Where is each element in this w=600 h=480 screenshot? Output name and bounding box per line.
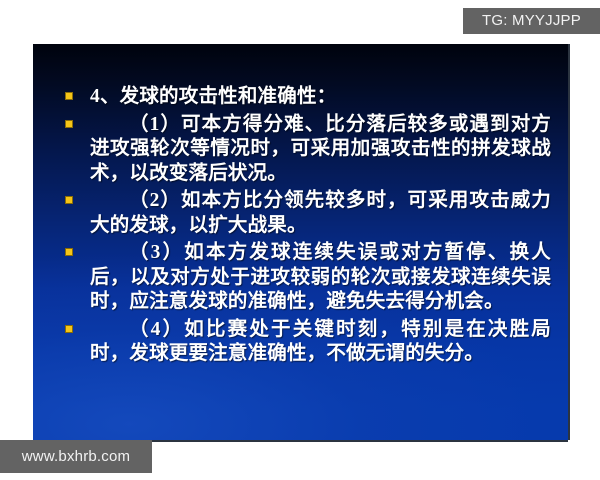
square-bullet-icon xyxy=(65,196,73,204)
telegram-handle-badge: TG: MYYJJPP xyxy=(463,8,600,34)
square-bullet-icon xyxy=(65,120,73,128)
bullet-item-text: （3）如本方发球连续失误或对方暂停、换人后，以及对方处于进攻较弱的轮次或接发球连… xyxy=(90,241,551,315)
list-item: （2）如本方比分领先较多时，可采用攻击威力大的发球，以扩大战果。 xyxy=(65,189,551,238)
bullet-item-text: （2）如本方比分领先较多时，可采用攻击威力大的发球，以扩大战果。 xyxy=(90,189,551,238)
site-watermark: www.bxhrb.com xyxy=(0,440,152,473)
slide-bullet-list: 4、发球的攻击性和准确性： （1）可本方得分难、比分落后较多或遇到对方进攻强轮次… xyxy=(65,85,551,370)
presentation-slide: 4、发球的攻击性和准确性： （1）可本方得分难、比分落后较多或遇到对方进攻强轮次… xyxy=(33,44,568,440)
list-item: （1）可本方得分难、比分落后较多或遇到对方进攻强轮次等情况时，可采用加强攻击性的… xyxy=(65,113,551,187)
bullet-item-text: （4）如比赛处于关键时刻，特别是在决胜局时，发球更要注意准确性，不做无谓的失分。 xyxy=(90,318,551,367)
list-item: （3）如本方发球连续失误或对方暂停、换人后，以及对方处于进攻较弱的轮次或接发球连… xyxy=(65,241,551,315)
list-item: （4）如比赛处于关键时刻，特别是在决胜局时，发球更要注意准确性，不做无谓的失分。 xyxy=(65,318,551,367)
bullet-item-text: （1）可本方得分难、比分落后较多或遇到对方进攻强轮次等情况时，可采用加强攻击性的… xyxy=(90,113,551,187)
square-bullet-icon xyxy=(65,325,73,333)
list-item: 4、发球的攻击性和准确性： xyxy=(65,85,551,110)
square-bullet-icon xyxy=(65,92,73,100)
bullet-item-text: 4、发球的攻击性和准确性： xyxy=(90,85,551,110)
square-bullet-icon xyxy=(65,248,73,256)
